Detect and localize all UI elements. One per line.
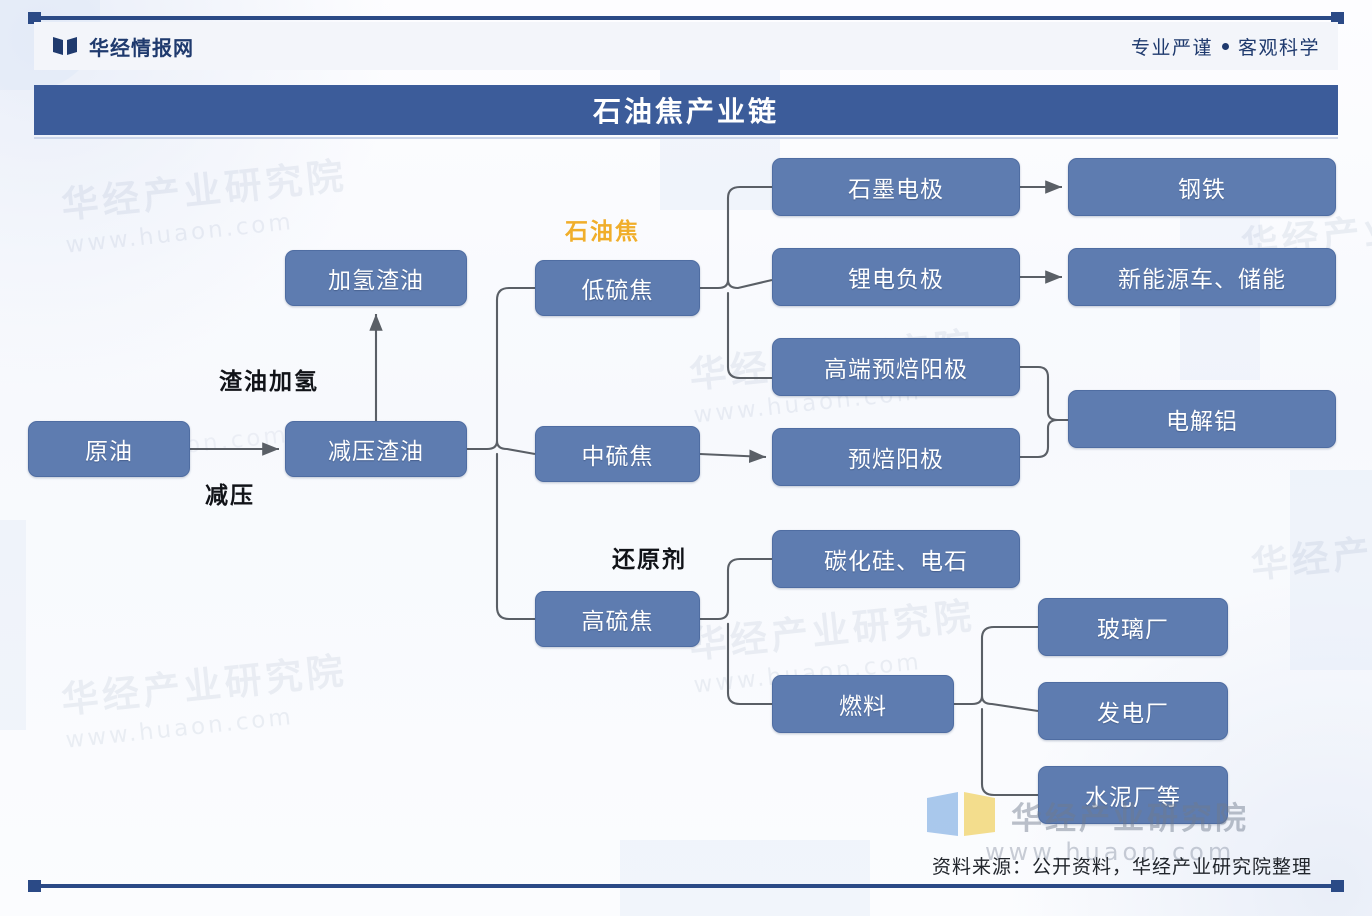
page-title-band: 石油焦产业链 xyxy=(34,85,1338,135)
node-steel[interactable]: 钢铁 xyxy=(1068,158,1336,216)
rule-cap-right xyxy=(1331,880,1344,892)
node-li_anode[interactable]: 锂电负极 xyxy=(772,248,1020,306)
node-graphite[interactable]: 石墨电极 xyxy=(772,158,1020,216)
node-glass[interactable]: 玻璃厂 xyxy=(1038,598,1228,656)
page-canvas: 华经产业研究院 www.huaon.com 华经产业研究院 www.huaon.… xyxy=(0,0,1372,916)
tagline-left: 专业严谨 xyxy=(1131,33,1213,60)
edge-label-reductant: 还原剂 xyxy=(612,540,687,574)
header-tagline: 专业严谨 客观科学 xyxy=(1131,33,1320,60)
edge-label-petcoke: 石油焦 xyxy=(565,212,640,246)
page-title: 石油焦产业链 xyxy=(593,90,779,130)
node-mid_sulfur[interactable]: 中硫焦 xyxy=(535,426,700,482)
rule-cap-left xyxy=(28,880,41,892)
open-book-icon xyxy=(52,35,78,57)
bullet-dot-icon xyxy=(1222,43,1229,50)
node-fuel[interactable]: 燃料 xyxy=(772,675,954,733)
brand-name: 华经情报网 xyxy=(89,32,194,61)
site-header: 华经情报网 专业严谨 客观科学 xyxy=(34,22,1338,70)
decor-blob xyxy=(620,840,870,916)
node-high_sulfur[interactable]: 高硫焦 xyxy=(535,591,700,647)
node-hi_prebake[interactable]: 高端预焙阳极 xyxy=(772,338,1020,396)
node-sic_carbide[interactable]: 碳化硅、电石 xyxy=(772,530,1020,588)
node-power[interactable]: 发电厂 xyxy=(1038,682,1228,740)
node-ev_storage[interactable]: 新能源车、储能 xyxy=(1068,248,1336,306)
node-hydro_resid[interactable]: 加氢渣油 xyxy=(285,250,467,306)
bottom-divider-rule xyxy=(34,884,1338,888)
industry-chain-diagram: 原油减压渣油加氢渣油低硫焦中硫焦高硫焦石墨电极锂电负极高端预焙阳极预焙阳极碳化硅… xyxy=(0,140,1372,840)
edge-label-resid_hydro: 渣油加氢 xyxy=(219,362,319,396)
footer-logo-text: 华经产业研究院 xyxy=(1011,793,1249,838)
node-electro_al[interactable]: 电解铝 xyxy=(1068,390,1336,448)
node-vac_resid[interactable]: 减压渣油 xyxy=(285,421,467,477)
top-divider-rule xyxy=(34,16,1338,20)
open-book-logo-icon xyxy=(925,790,997,840)
title-underline xyxy=(34,137,1338,139)
tagline-right: 客观科学 xyxy=(1238,33,1320,60)
brand[interactable]: 华经情报网 xyxy=(52,32,194,61)
edge-label-decompress: 减压 xyxy=(205,476,255,510)
node-crude[interactable]: 原油 xyxy=(28,421,190,477)
source-note: 资料来源：公开资料，华经产业研究院整理 xyxy=(932,852,1312,879)
footer-logo: 华经产业研究院 xyxy=(925,790,1249,840)
node-prebake[interactable]: 预焙阳极 xyxy=(772,428,1020,486)
node-low_sulfur[interactable]: 低硫焦 xyxy=(535,260,700,316)
